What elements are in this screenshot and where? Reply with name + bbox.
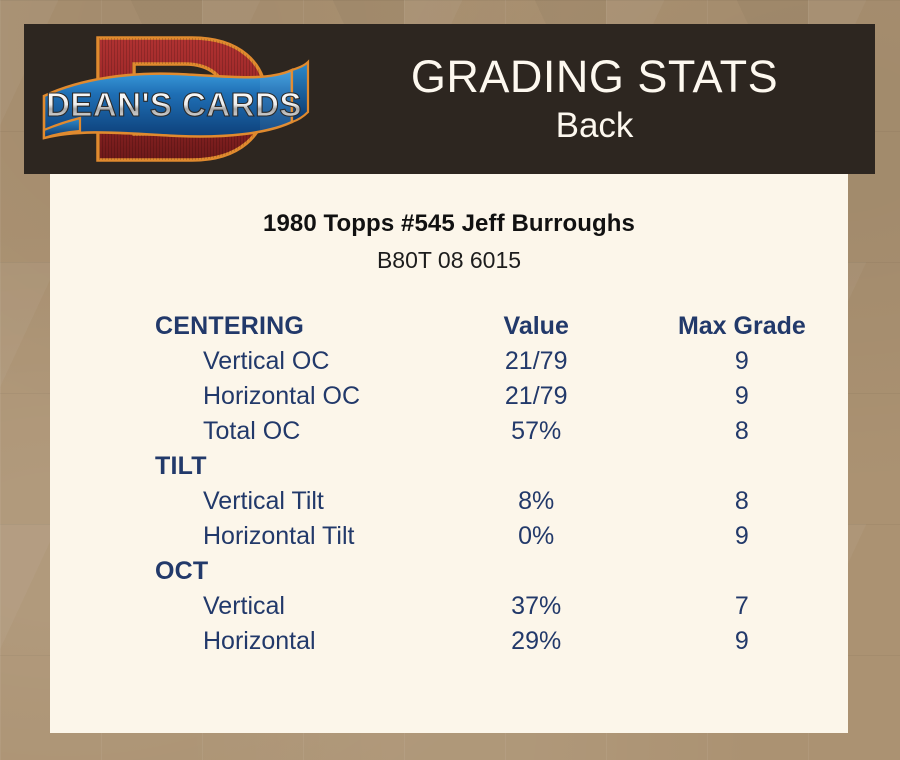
stats-row-max-grade: 9 [636, 624, 848, 659]
stats-row-value: 37% [437, 589, 636, 624]
stats-row-label: Horizontal OC [50, 379, 437, 414]
stats-group-title: OCT [50, 554, 437, 589]
grading-stats-table: CENTERINGValueMax GradeVertical OC21/799… [50, 309, 848, 659]
stats-row-label: Total OC [50, 414, 437, 449]
card-title: 1980 Topps #545 Jeff Burroughs [50, 210, 848, 238]
table-row: Vertical37%7 [50, 589, 848, 624]
stats-row-value: 57% [437, 414, 636, 449]
stats-row-label: Horizontal Tilt [50, 519, 437, 554]
stats-group-row-centering: CENTERINGValueMax Grade [50, 309, 848, 344]
stats-row-label: Horizontal [50, 624, 437, 659]
table-row: Horizontal29%9 [50, 624, 848, 659]
stats-group-row-tilt: TILT [50, 449, 848, 484]
column-header-label: CENTERING [50, 309, 437, 344]
stats-group-value-spacer [437, 554, 636, 589]
table-row: Vertical Tilt8%8 [50, 484, 848, 519]
header-bar: DEAN'S CARDS GRADING STATS Back [24, 24, 875, 174]
page-title: GRADING STATS [411, 51, 778, 103]
stats-row-max-grade: 9 [636, 344, 848, 379]
card-code: B80T 08 6015 [50, 247, 848, 274]
column-header-value: Value [437, 309, 636, 344]
stats-row-max-grade: 9 [636, 379, 848, 414]
logo-ribbon-text: DEAN'S CARDS [46, 86, 302, 123]
stats-row-label: Vertical Tilt [50, 484, 437, 519]
stats-group-title: TILT [50, 449, 437, 484]
stats-row-value: 8% [437, 484, 636, 519]
stats-row-value: 0% [437, 519, 636, 554]
stats-group-grade-spacer [636, 554, 848, 589]
table-row: Horizontal Tilt0%9 [50, 519, 848, 554]
stats-row-value: 21/79 [437, 344, 636, 379]
stats-row-value: 21/79 [437, 379, 636, 414]
stats-row-max-grade: 8 [636, 484, 848, 519]
table-row: Horizontal OC21/799 [50, 379, 848, 414]
table-row: Vertical OC21/799 [50, 344, 848, 379]
column-header-max-grade: Max Grade [636, 309, 848, 344]
content-panel: 1980 Topps #545 Jeff Burroughs B80T 08 6… [50, 174, 848, 733]
stats-row-label: Vertical [50, 589, 437, 624]
stats-row-label: Vertical OC [50, 344, 437, 379]
deans-cards-logo[interactable]: DEAN'S CARDS [42, 26, 314, 172]
stats-row-max-grade: 8 [636, 414, 848, 449]
stats-group-grade-spacer [636, 449, 848, 484]
stats-group-value-spacer [437, 449, 636, 484]
stats-row-max-grade: 7 [636, 589, 848, 624]
stats-row-value: 29% [437, 624, 636, 659]
table-row: Total OC57%8 [50, 414, 848, 449]
stats-row-max-grade: 9 [636, 519, 848, 554]
stats-group-row-oct: OCT [50, 554, 848, 589]
header-title-block: GRADING STATS Back [314, 24, 875, 174]
page-subtitle: Back [556, 105, 634, 147]
